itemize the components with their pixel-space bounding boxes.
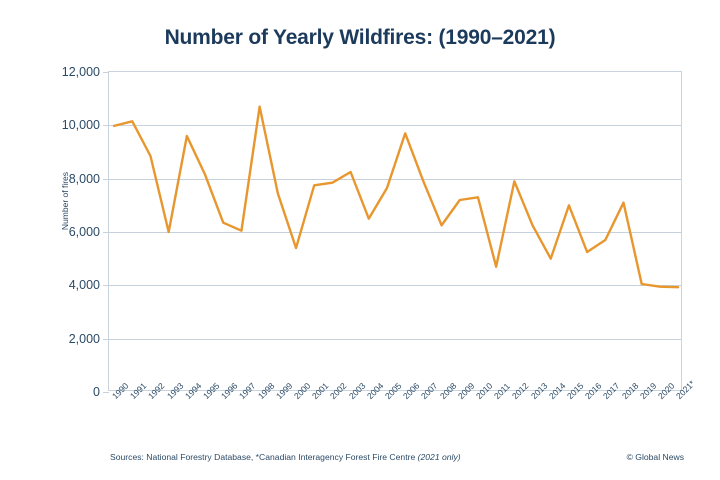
y-tick-label: 6,000	[69, 225, 100, 239]
chart-title: Number of Yearly Wildfires: (1990–2021)	[0, 26, 720, 50]
wildfire-line-chart: Number of Yearly Wildfires: (1990–2021) …	[0, 0, 720, 480]
y-tickmark	[103, 392, 109, 393]
footer-credit: © Global News	[627, 452, 684, 462]
y-tick-label: 0	[93, 385, 100, 399]
plot-area: 12,00010,0008,0006,0004,0002,0000	[108, 71, 682, 391]
y-tick-label: 8,000	[69, 172, 100, 186]
y-tick-label: 2,000	[69, 332, 100, 346]
y-tick-label: 12,000	[62, 65, 100, 79]
y-tick-label: 4,000	[69, 278, 100, 292]
series-line-wildfires	[109, 72, 683, 392]
y-tick-label: 10,000	[62, 118, 100, 132]
footer-sources-text: Sources: National Forestry Database, *Ca…	[110, 452, 418, 462]
footer-sources-note: (2021 only)	[418, 452, 461, 462]
chart-footer: Sources: National Forestry Database, *Ca…	[0, 452, 720, 466]
footer-sources: Sources: National Forestry Database, *Ca…	[110, 452, 461, 462]
